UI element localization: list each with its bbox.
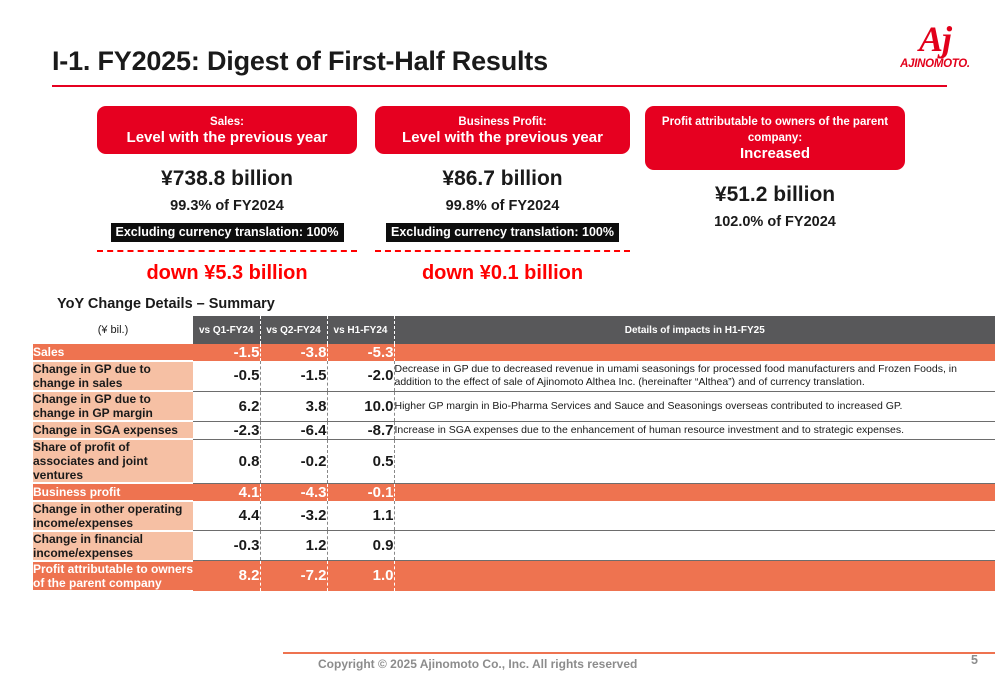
cell-h1: 0.9 <box>327 531 394 561</box>
cell-q2: -3.8 <box>260 344 327 361</box>
kpi-pill-status: Level with the previous year <box>103 130 351 146</box>
cell-h1: -8.7 <box>327 421 394 439</box>
table-caption: YoY Change Details – Summary <box>57 296 275 312</box>
copyright-text: Copyright © 2025 Ajinomoto Co., Inc. All… <box>318 657 637 671</box>
row-label: Share of profit of associates and joint … <box>33 439 193 483</box>
kpi-amount: ¥86.7 billion <box>375 167 630 191</box>
logo-wordmark: AJINOMOTO. <box>892 58 978 71</box>
cell-q1: 0.8 <box>193 439 260 483</box>
kpi-amount: ¥51.2 billion <box>645 183 905 207</box>
kpi-excluding-badge: Excluding currency translation: 100% <box>386 223 619 242</box>
yoy-change-table: (¥ bil.) vs Q1-FY24 vs Q2-FY24 vs H1-FY2… <box>33 316 995 592</box>
cell-details <box>394 439 995 483</box>
table-row: Change in GP due to change in GP margin6… <box>33 391 995 421</box>
cell-q1: 6.2 <box>193 391 260 421</box>
cell-q2: 1.2 <box>260 531 327 561</box>
table-header-row: (¥ bil.) vs Q1-FY24 vs Q2-FY24 vs H1-FY2… <box>33 316 995 344</box>
kpi-change: down ¥5.3 billion <box>97 262 357 285</box>
kpi-dashed-divider <box>375 250 630 252</box>
row-label: Profit attributable to owners of the par… <box>33 561 193 591</box>
table-row: Profit attributable to owners of the par… <box>33 561 995 591</box>
row-label: Change in other operating income/expense… <box>33 501 193 531</box>
kpi-pill-label: Business Profit: <box>381 114 624 130</box>
cell-details <box>394 501 995 531</box>
kpi-card-sales: Sales: Level with the previous year ¥738… <box>97 106 357 285</box>
cell-q2: -0.2 <box>260 439 327 483</box>
kpi-excluding-badge: Excluding currency translation: 100% <box>111 223 344 242</box>
cell-q2: -7.2 <box>260 561 327 591</box>
page-title: I-1. FY2025: Digest of First-Half Result… <box>52 46 548 77</box>
kpi-pill-business-profit: Business Profit: Level with the previous… <box>375 106 630 154</box>
kpi-pill-parent-profit: Profit attributable to owners of the par… <box>645 106 905 170</box>
cell-details: Increase in SGA expenses due to the enha… <box>394 421 995 439</box>
kpi-change: down ¥0.1 billion <box>375 262 630 285</box>
kpi-ratio: 99.8% of FY2024 <box>375 198 630 214</box>
kpi-pill-label: Sales: <box>103 114 351 130</box>
kpi-pill-status: Increased <box>651 146 899 162</box>
table-row: Change in financial income/expenses-0.31… <box>33 531 995 561</box>
cell-h1: 1.0 <box>327 561 394 591</box>
kpi-card-parent-profit: Profit attributable to owners of the par… <box>645 106 905 230</box>
cell-h1: -2.0 <box>327 361 394 391</box>
kpi-ratio: 102.0% of FY2024 <box>645 214 905 230</box>
cell-h1: -5.3 <box>327 344 394 361</box>
cell-q1: -0.3 <box>193 531 260 561</box>
table-row: Share of profit of associates and joint … <box>33 439 995 483</box>
table-row: Change in GP due to change in sales-0.5-… <box>33 361 995 391</box>
table-row: Change in SGA expenses-2.3-6.4-8.7Increa… <box>33 421 995 439</box>
logo-mark-icon: Aj <box>892 20 978 58</box>
title-underline-rule <box>52 85 947 87</box>
cell-q1: -1.5 <box>193 344 260 361</box>
column-header-details: Details of impacts in H1-FY25 <box>394 316 995 344</box>
cell-q1: 4.4 <box>193 501 260 531</box>
table-row: Business profit4.1-4.3-0.1 <box>33 483 995 501</box>
column-header-h1: vs H1-FY24 <box>327 316 394 344</box>
cell-h1: -0.1 <box>327 483 394 501</box>
cell-q2: 3.8 <box>260 391 327 421</box>
kpi-amount: ¥738.8 billion <box>97 167 357 191</box>
cell-h1: 10.0 <box>327 391 394 421</box>
cell-h1: 1.1 <box>327 501 394 531</box>
column-header-q1: vs Q1-FY24 <box>193 316 260 344</box>
cell-details <box>394 483 995 501</box>
kpi-pill-sales: Sales: Level with the previous year <box>97 106 357 154</box>
kpi-pill-label: Profit attributable to owners of the par… <box>651 114 899 146</box>
cell-q2: -6.4 <box>260 421 327 439</box>
row-label: Change in financial income/expenses <box>33 531 193 561</box>
cell-h1: 0.5 <box>327 439 394 483</box>
cell-details: Decrease in GP due to decreased revenue … <box>394 361 995 391</box>
kpi-card-business-profit: Business Profit: Level with the previous… <box>375 106 630 285</box>
cell-q1: 4.1 <box>193 483 260 501</box>
footer-rule <box>283 652 995 654</box>
cell-q1: -0.5 <box>193 361 260 391</box>
cell-details: Higher GP margin in Bio-Pharma Services … <box>394 391 995 421</box>
row-label: Sales <box>33 344 193 361</box>
ajinomoto-logo: Aj AJINOMOTO. <box>892 20 978 82</box>
kpi-pill-status: Level with the previous year <box>381 130 624 146</box>
table-row: Sales-1.5-3.8-5.3 <box>33 344 995 361</box>
cell-q2: -3.2 <box>260 501 327 531</box>
row-label: Change in GP due to change in sales <box>33 361 193 391</box>
row-label: Change in SGA expenses <box>33 421 193 439</box>
cell-details <box>394 531 995 561</box>
table-row: Change in other operating income/expense… <box>33 501 995 531</box>
cell-details <box>394 561 995 591</box>
cell-details <box>394 344 995 361</box>
cell-q2: -4.3 <box>260 483 327 501</box>
kpi-ratio: 99.3% of FY2024 <box>97 198 357 214</box>
page-number: 5 <box>971 653 978 667</box>
table-unit-label: (¥ bil.) <box>33 316 193 344</box>
row-label: Change in GP due to change in GP margin <box>33 391 193 421</box>
row-label: Business profit <box>33 483 193 501</box>
cell-q1: 8.2 <box>193 561 260 591</box>
cell-q2: -1.5 <box>260 361 327 391</box>
cell-q1: -2.3 <box>193 421 260 439</box>
kpi-dashed-divider <box>97 250 357 252</box>
column-header-q2: vs Q2-FY24 <box>260 316 327 344</box>
